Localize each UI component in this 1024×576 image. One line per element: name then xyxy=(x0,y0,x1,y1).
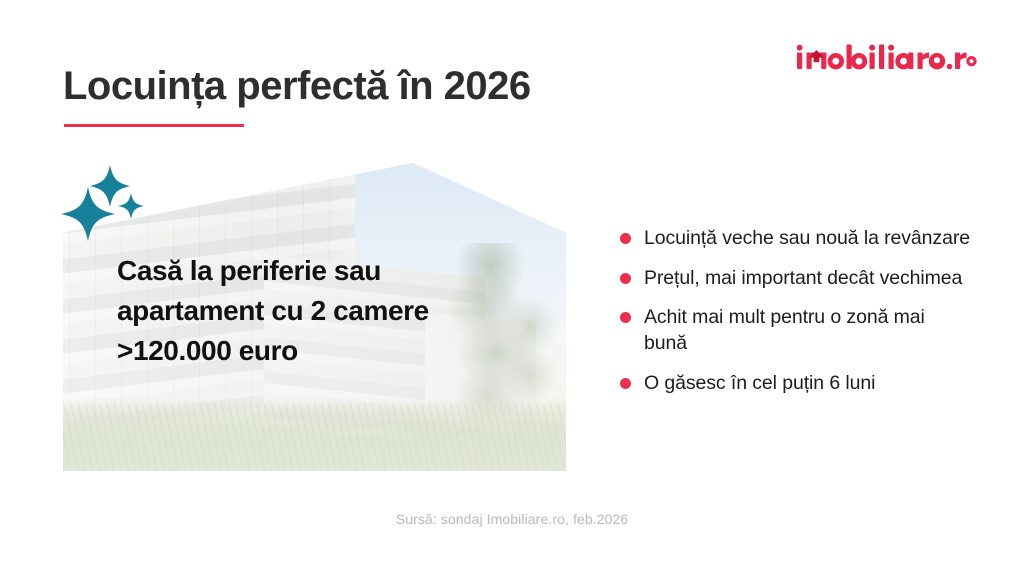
photo-overlay-headline: Casă la periferie sau apartament cu 2 ca… xyxy=(117,251,567,370)
list-item: Prețul, mai important decât vechimea xyxy=(620,266,970,292)
findings-list: Locuință veche sau nouă la revânzare Pre… xyxy=(620,226,970,411)
list-item-label: Prețul, mai important decât vechimea xyxy=(644,266,962,292)
overlay-line-1: Casă la periferie sau xyxy=(117,251,567,291)
sparkle-icon xyxy=(118,193,144,219)
list-item: Achit mai mult pentru o zonă mai bună xyxy=(620,305,970,356)
bullet-dot-icon xyxy=(620,273,631,284)
title-underline-rule xyxy=(64,124,244,127)
page-title: Locuința perfectă în 2026 xyxy=(63,63,531,109)
slide-canvas: imobiliare.ro Locuința perfectă în 2026 xyxy=(0,0,1024,576)
list-item-label: O găsesc în cel puțin 6 luni xyxy=(644,371,875,397)
list-item: Locuință veche sau nouă la revânzare xyxy=(620,226,970,252)
list-item-label: Achit mai mult pentru o zonă mai bună xyxy=(644,305,970,356)
list-item: O găsesc în cel puțin 6 luni xyxy=(620,371,970,397)
sparkle-icon xyxy=(90,165,130,207)
imobiliare-logo[interactable]: imobiliare.ro xyxy=(797,44,977,72)
overlay-line-3: >120.000 euro xyxy=(117,331,567,371)
overlay-line-2: apartament cu 2 camere xyxy=(117,291,567,331)
bullet-dot-icon xyxy=(620,378,631,389)
list-item-label: Locuință veche sau nouă la revânzare xyxy=(644,226,970,252)
bullet-dot-icon xyxy=(620,233,631,244)
bullet-dot-icon xyxy=(620,312,631,323)
sparkle-decoration-group xyxy=(60,155,180,260)
source-caption: Sursă: sondaj Imobiliare.ro, feb.2026 xyxy=(0,511,1024,527)
